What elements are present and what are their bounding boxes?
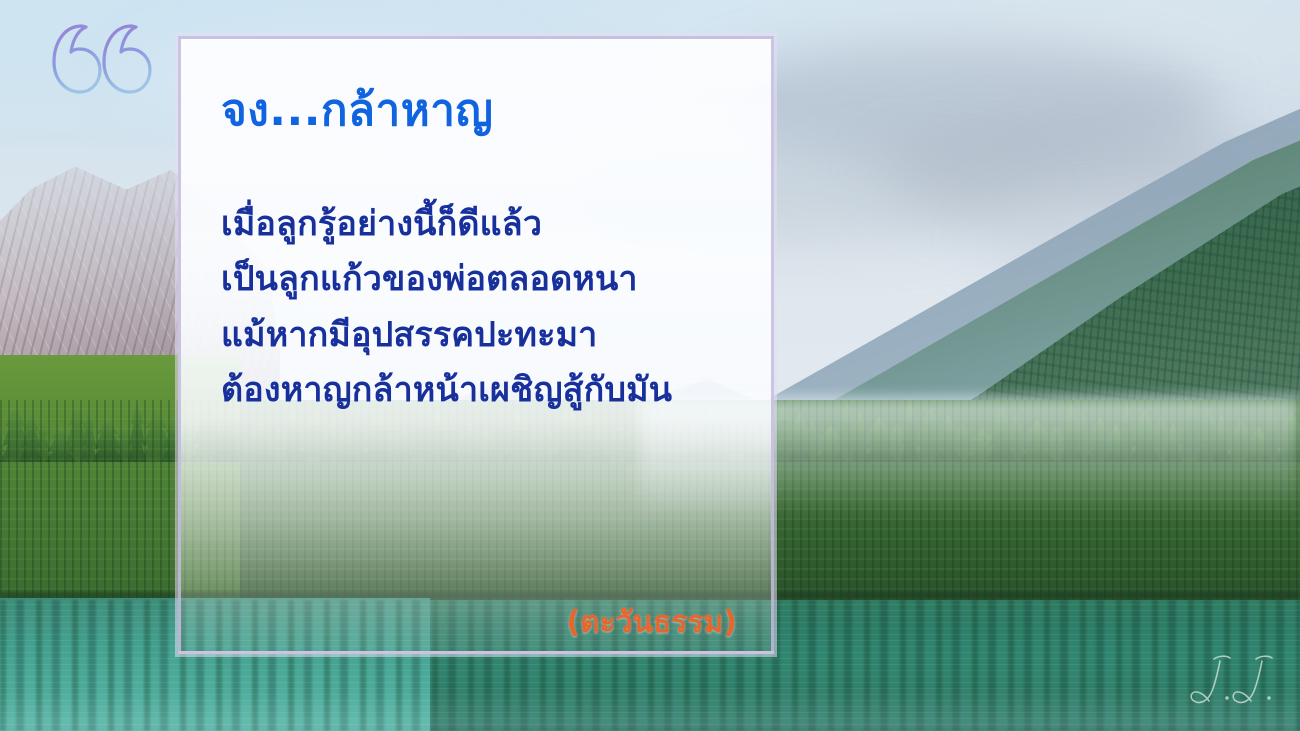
poem-body: เมื่อลูกรู้อย่างนี้ก็ดีแล้ว เป็นลูกแก้วข… (221, 197, 737, 417)
slide-canvas: จง...กล้าหาญ เมื่อลูกรู้อย่างนี้ก็ดีแล้ว… (0, 0, 1300, 731)
poem-line: แม้หากมีอุปสรรคปะทะมา (221, 308, 737, 363)
poem-line: เมื่อลูกรู้อย่างนี้ก็ดีแล้ว (221, 197, 737, 252)
poem-line: ต้องหาญกล้าหน้าเผชิญสู้กับมัน (221, 363, 737, 418)
signature-icon (1176, 651, 1286, 713)
quote-card-inner: จง...กล้าหาญ เมื่อลูกรู้อย่างนี้ก็ดีแล้ว… (181, 39, 771, 651)
lake-shine (0, 690, 1300, 731)
quote-title: จง...กล้าหาญ (221, 87, 737, 135)
quote-mark-icon (48, 18, 158, 98)
quote-attribution: (ตะวันธรรม) (566, 599, 737, 646)
quote-card: จง...กล้าหาญ เมื่อลูกรู้อย่างนี้ก็ดีแล้ว… (178, 36, 774, 654)
poem-line: เป็นลูกแก้วของพ่อตลอดหนา (221, 252, 737, 307)
